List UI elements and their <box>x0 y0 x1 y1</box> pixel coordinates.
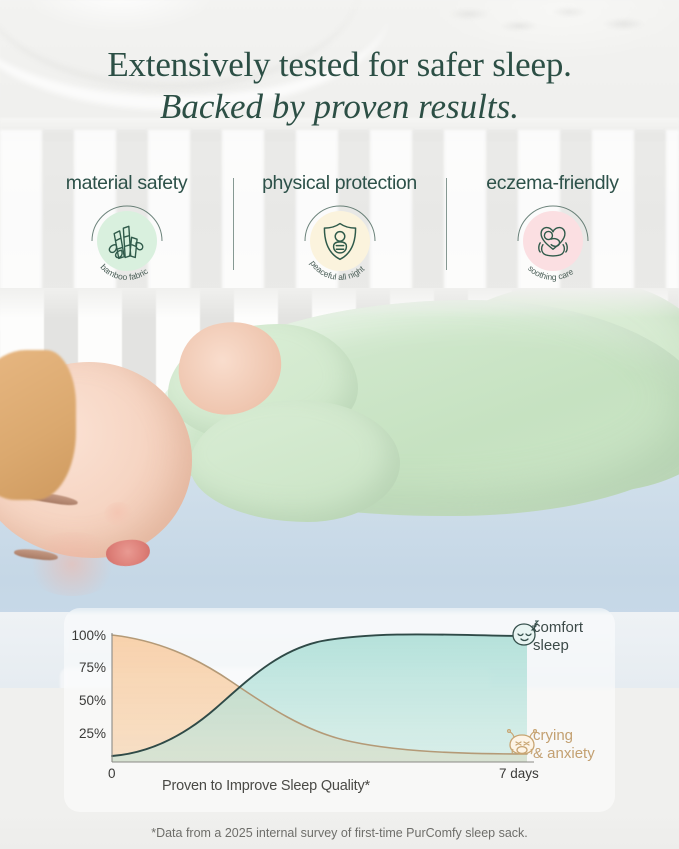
baby-in-hands-heart-icon <box>531 219 575 263</box>
legend-crying-line2: & anxiety <box>533 745 595 763</box>
sleeping-baby-face-icon <box>507 620 541 650</box>
badge-title: physical protection <box>234 172 446 195</box>
crying-baby-face-icon <box>505 728 539 758</box>
svg-text:bamboo fabric: bamboo fabric <box>98 262 150 282</box>
feature-badge-row: material safety bamboo fabric <box>0 172 679 292</box>
badge-emblem: bamboo fabric <box>83 201 171 289</box>
shield-baby-icon <box>318 219 362 263</box>
badge-title: eczema-friendly <box>447 172 659 195</box>
headline: Extensively tested for safer sleep. Back… <box>0 44 679 128</box>
legend-comfort-sleep: comfort sleep <box>533 619 583 655</box>
badge-title: material safety <box>21 172 233 195</box>
baby-hair <box>0 350 76 500</box>
legend-crying-line1: crying <box>533 727 595 745</box>
badge-curved-label: bamboo fabric <box>98 262 150 282</box>
baby-cheek <box>24 532 120 596</box>
badge-material-safety: material safety bamboo fabric <box>21 172 233 289</box>
x-tick-end: 7 days <box>499 766 539 781</box>
y-tick-100: 100% <box>62 628 106 643</box>
y-tick-50: 50% <box>62 693 106 708</box>
badge-eczema-friendly: eczema-friendly soothing care <box>447 172 659 289</box>
footnote: *Data from a 2025 internal survey of fir… <box>0 826 679 840</box>
headline-line-1: Extensively tested for safer sleep. <box>0 44 679 85</box>
y-tick-25: 25% <box>62 726 106 741</box>
badge-emblem: soothing care <box>509 201 597 289</box>
y-tick-75: 75% <box>62 660 106 675</box>
badge-emblem: peaceful all night <box>296 201 384 289</box>
svg-text:soothing care: soothing care <box>526 263 575 282</box>
badge-curved-label: soothing care <box>526 263 575 282</box>
legend-crying-anxiety: crying & anxiety <box>533 727 595 763</box>
photo-top-fade <box>0 288 679 318</box>
ad-creative-canvas: Extensively tested for safer sleep. Back… <box>0 0 679 849</box>
headline-line-2: Backed by proven results. <box>0 85 679 128</box>
bamboo-stalks-icon <box>105 219 149 263</box>
badge-physical-protection: physical protection peaceful all night <box>234 172 446 289</box>
baby-arm-lower <box>190 400 400 522</box>
chart-caption: Proven to Improve Sleep Quality* <box>96 778 436 794</box>
baby-nose <box>104 502 134 526</box>
